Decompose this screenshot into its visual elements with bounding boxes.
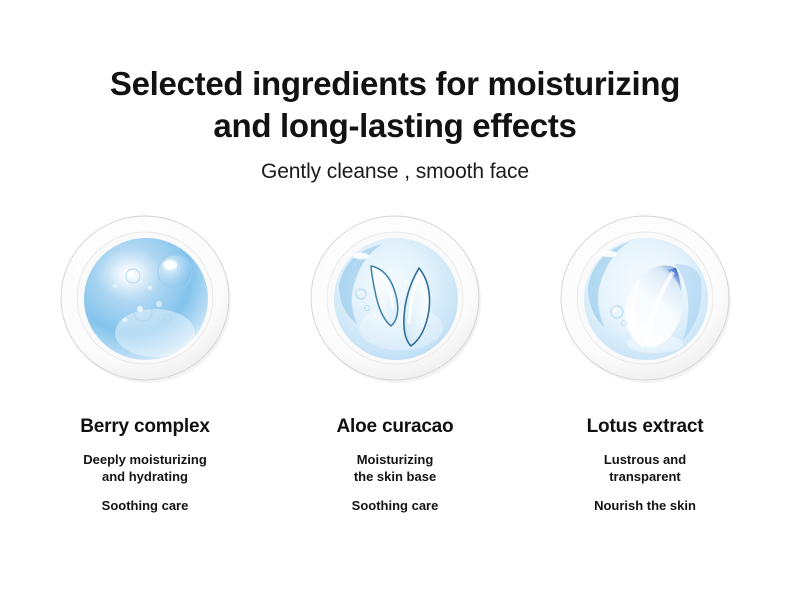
lotus-extract-gel-dish — [555, 208, 735, 388]
ingredient-benefit-secondary: Soothing care — [352, 497, 439, 514]
ingredient-name: Aloe curacao — [337, 416, 454, 438]
promo-page: Selected ingredients for moisturizing an… — [0, 0, 790, 604]
ingredient-card-berry-complex: Berry complex Deeply moisturizing and hy… — [20, 208, 270, 514]
headline-line-1: Selected ingredients for moisturizing — [0, 63, 790, 105]
ingredient-name: Lotus extract — [587, 416, 704, 438]
benefit-line: transparent — [594, 468, 696, 485]
benefit-line: Lustrous and — [594, 451, 696, 468]
ingredient-benefit-secondary: Nourish the skin — [594, 497, 696, 514]
ingredient-benefit-primary: Lustrous and transparent — [594, 451, 696, 486]
ingredient-benefit-primary: Moisturizing the skin base — [352, 451, 439, 486]
benefit-line: Soothing care — [83, 497, 207, 514]
benefit-line: Nourish the skin — [594, 497, 696, 514]
benefit-line: and hydrating — [83, 468, 207, 485]
benefit-line: the skin base — [352, 468, 439, 485]
ingredient-benefit-primary: Deeply moisturizing and hydrating — [83, 451, 207, 486]
ingredient-list: Berry complex Deeply moisturizing and hy… — [0, 208, 790, 514]
header-block: Selected ingredients for moisturizing an… — [0, 0, 790, 184]
ingredient-benefits: Moisturizing the skin base Soothing care — [352, 451, 439, 514]
ingredient-benefits: Lustrous and transparent Nourish the ski… — [594, 451, 696, 514]
page-subtitle: Gently cleanse , smooth face — [0, 146, 790, 184]
berry-complex-gel-dish — [55, 208, 235, 388]
benefit-line: Moisturizing — [352, 451, 439, 468]
headline-line-2: and long-lasting effects — [0, 105, 790, 147]
ingredient-card-aloe-curacao: Aloe curacao Moisturizing the skin base … — [270, 208, 520, 514]
aloe-curacao-gel-dish — [305, 208, 485, 388]
benefit-line: Deeply moisturizing — [83, 451, 207, 468]
ingredient-benefit-secondary: Soothing care — [83, 497, 207, 514]
ingredient-name: Berry complex — [80, 416, 209, 438]
ingredient-benefits: Deeply moisturizing and hydrating Soothi… — [83, 451, 207, 514]
benefit-line: Soothing care — [352, 497, 439, 514]
page-title: Selected ingredients for moisturizing an… — [0, 63, 790, 146]
ingredient-card-lotus-extract: Lotus extract Lustrous and transparent N… — [520, 208, 770, 514]
